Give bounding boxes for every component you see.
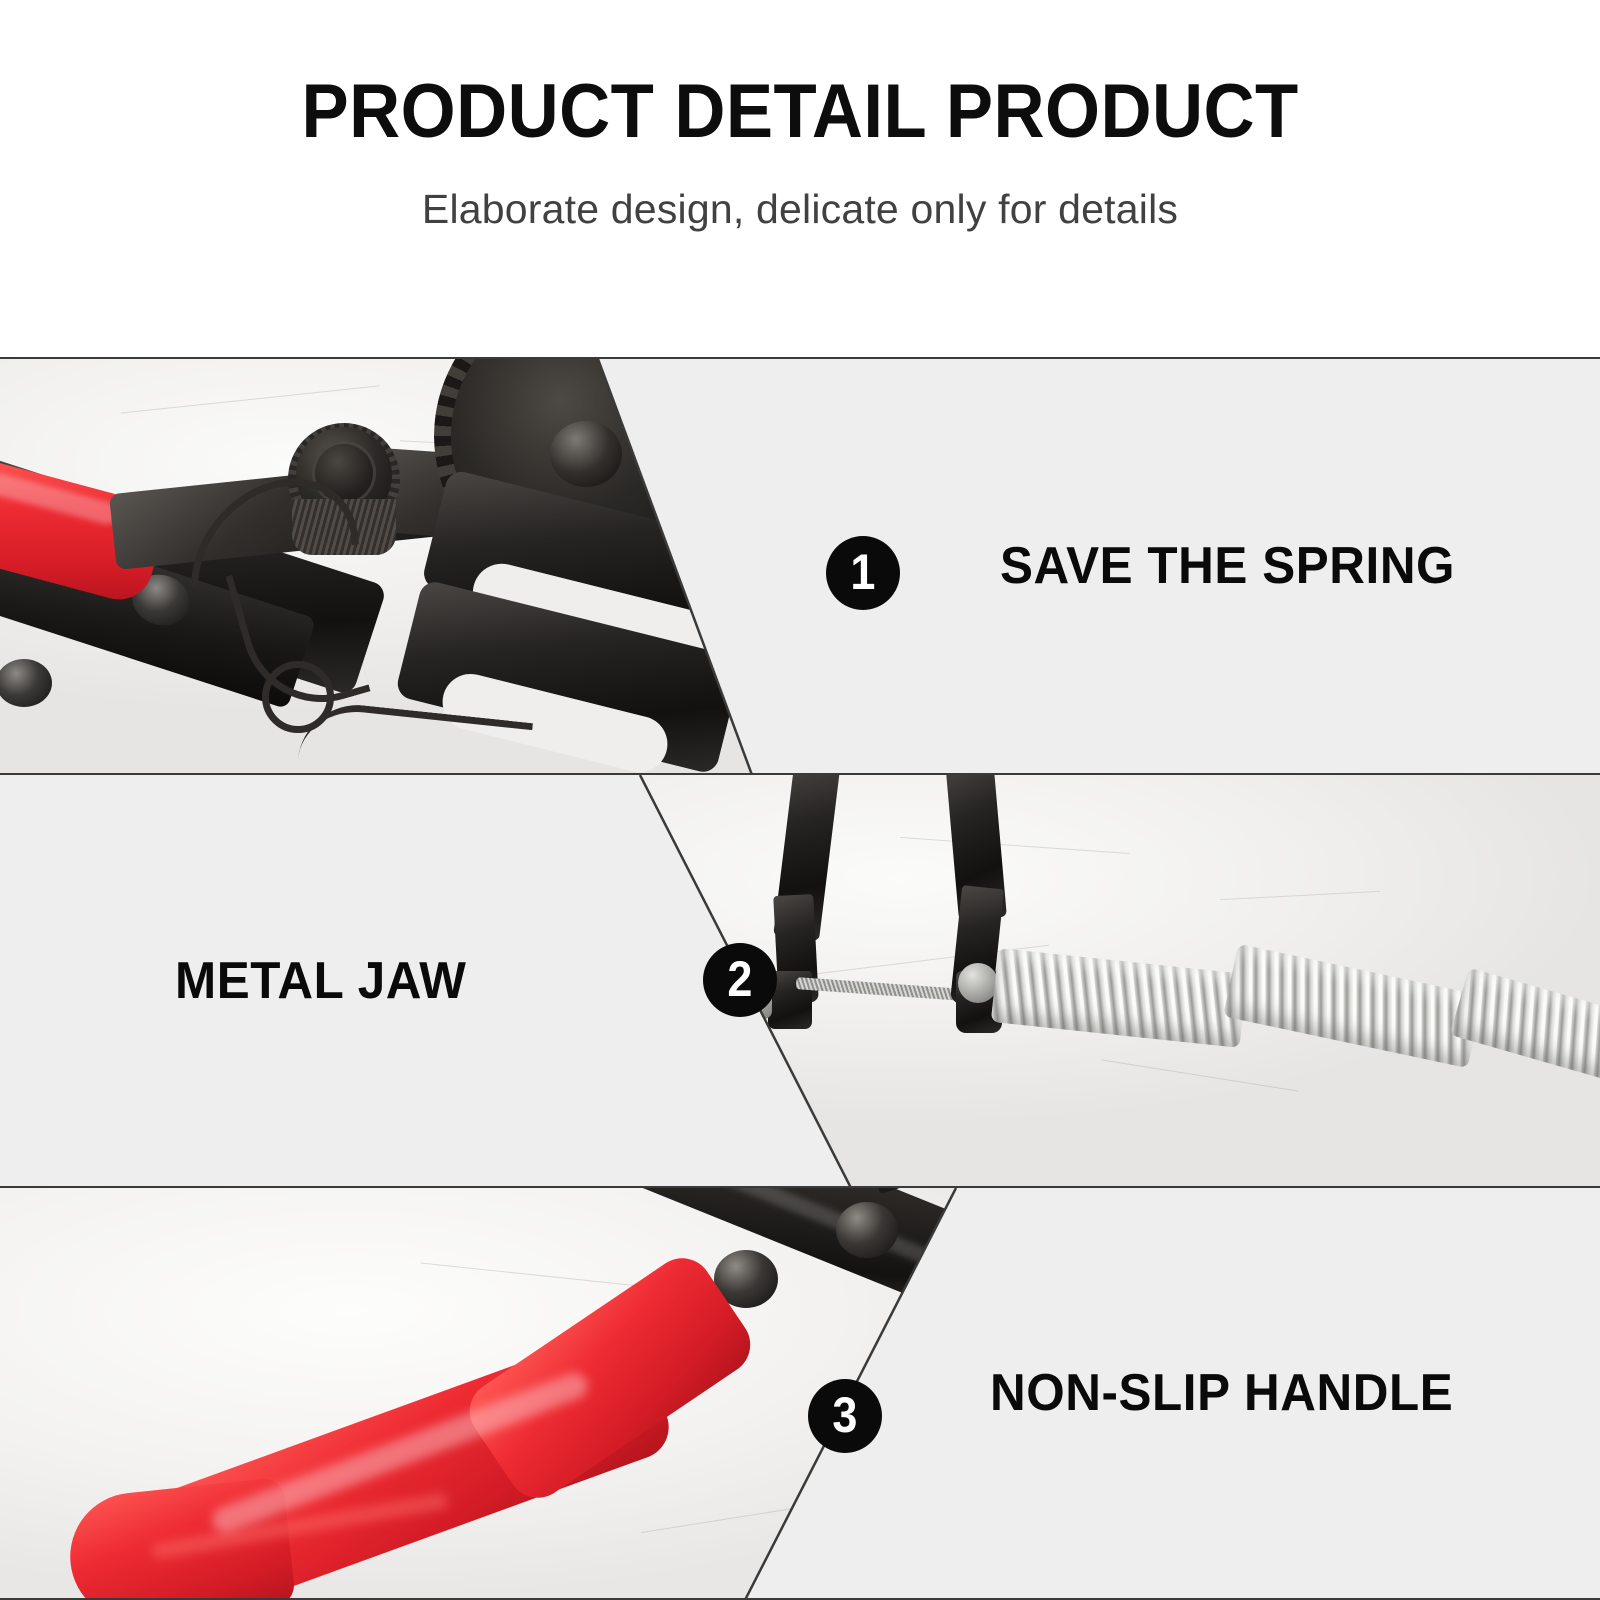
feature-caption-2: METAL JAW [175,775,635,1186]
feature-row-1: 1 SAVE THE SPRING [0,357,1600,773]
page-subtitle: Elaborate design, delicate only for deta… [422,186,1178,233]
product-detail-infographic: PRODUCT DETAIL PRODUCT Elaborate design,… [0,0,1600,1600]
feature-row-2: 2 METAL JAW [0,773,1600,1186]
feature-badge-3: 3 [808,1379,882,1453]
feature-label-2: METAL JAW [175,951,466,1011]
feature-caption-1: SAVE THE SPRING [1000,359,1600,773]
feature-row-3: 3 NON-SLIP HANDLE [0,1186,1600,1600]
header: PRODUCT DETAIL PRODUCT Elaborate design,… [0,0,1600,357]
feature-label-3: NON-SLIP HANDLE [990,1363,1453,1423]
feature-caption-3: NON-SLIP HANDLE [990,1188,1600,1598]
feature-number-1: 1 [850,547,875,597]
feature-number-3: 3 [832,1390,857,1440]
feature-number-2: 2 [727,954,752,1004]
feature-badge-1: 1 [826,536,900,610]
feature-badge-2: 2 [703,943,777,1017]
feature-label-1: SAVE THE SPRING [1000,536,1455,596]
feature-photo-1 [0,359,960,773]
page-title: PRODUCT DETAIL PRODUCT [301,74,1298,150]
